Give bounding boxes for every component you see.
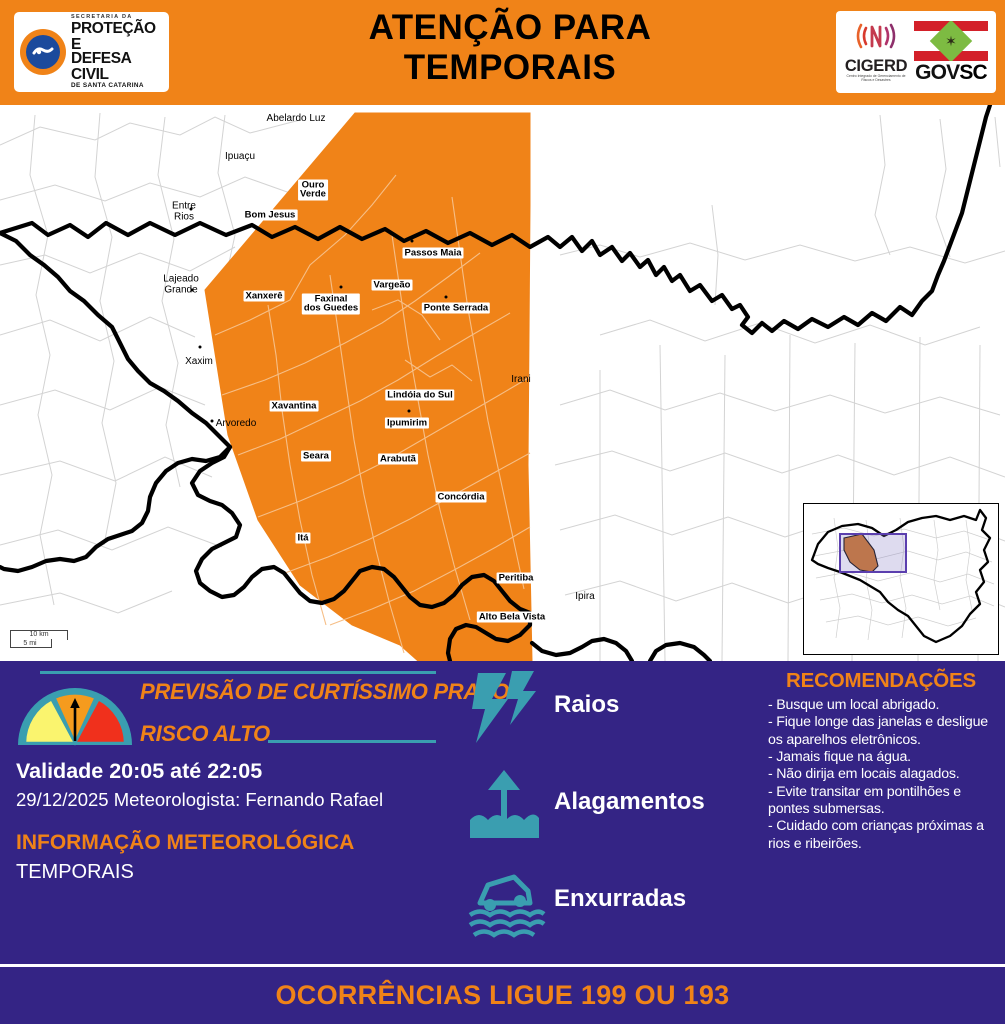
govsc-suffix: SC <box>959 61 987 84</box>
santa-catarina-flag-icon: ✶ <box>914 21 988 61</box>
cigerd-name: CIGERD <box>842 58 910 75</box>
recommendation-item: - Evite transitar em pontilhões e pontes… <box>768 784 1000 819</box>
meteorologist-line: 29/12/2025 Meteorologista: Fernando Rafa… <box>16 789 383 811</box>
city-dot <box>199 346 202 349</box>
hazard-item-raios: Raios <box>468 669 758 766</box>
recommendation-item: - Fique longe das janelas e desligue os … <box>768 714 1000 749</box>
logo-line1: PROTEÇÃO E <box>71 21 169 52</box>
meteo-info-heading: INFORMAÇÃO METEOROLÓGICA <box>16 831 354 855</box>
hazard-label: Alagamentos <box>554 788 705 816</box>
header-bar: SECRETARIA DA PROTEÇÃO E DEFESA CIVIL DE… <box>0 0 1005 105</box>
panel-divider-top <box>40 671 436 674</box>
city-label-passosmaia[interactable]: Passos Maia <box>402 248 463 259</box>
title-line-1: ATENÇÃO PARA <box>200 8 820 48</box>
city-label-concrdia[interactable]: Concórdia <box>436 492 487 503</box>
alert-zone-polygon <box>205 113 532 661</box>
city-label-abelardoluz[interactable]: Abelardo Luz <box>267 114 326 125</box>
city-label-vargeo[interactable]: Vargeão <box>372 280 413 291</box>
hazard-list: Raios Alagamentos <box>468 669 758 960</box>
partner-logos: CIGERD Centro Integrado de Gerenciamento… <box>836 11 996 93</box>
inset-viewport-box <box>840 534 906 572</box>
risk-level-underline <box>268 740 436 743</box>
city-label-ipira[interactable]: Ipira <box>575 592 594 603</box>
city-label-faxinal-dosguedes[interactable]: Faxinaldos Guedes <box>302 294 360 315</box>
hazard-label: Enxurradas <box>554 885 686 913</box>
city-label-ipumirim[interactable]: Ipumirim <box>385 418 429 429</box>
city-label-arvoredo[interactable]: Arvoredo <box>216 419 257 430</box>
city-dot <box>411 240 414 243</box>
hazard-label: Raios <box>554 691 619 719</box>
city-dot <box>445 296 448 299</box>
city-label-xaxim[interactable]: Xaxim <box>185 357 213 368</box>
city-label-bomjesus[interactable]: Bom Jesus <box>243 210 298 221</box>
recommendations-list: - Busque um local abrigado.- Fique longe… <box>762 697 1000 853</box>
city-label-peritiba[interactable]: Peritiba <box>497 573 536 584</box>
west-boundary-detail <box>0 447 230 571</box>
map-scale-bar: 10 km 5 mi <box>10 630 68 650</box>
scale-mi: 5 mi <box>10 640 50 647</box>
risk-level-label: RISCO ALTO <box>140 721 270 747</box>
city-dot <box>408 410 411 413</box>
hazard-item-enxurradas: Enxurradas <box>468 863 758 960</box>
city-label-xavantina[interactable]: Xavantina <box>270 401 319 412</box>
city-dot <box>211 420 214 423</box>
east-lower-boundary-2 <box>650 643 710 661</box>
scale-km: 10 km <box>10 631 68 638</box>
recommendation-item: - Busque um local abrigado. <box>768 697 1000 714</box>
cigerd-waves-icon <box>853 21 899 51</box>
city-label-ipuau[interactable]: Ipuaçu <box>225 152 255 163</box>
cigerd-subtitle: Centro Integrado de Gerenciamento de Ris… <box>842 75 910 83</box>
city-label-ponteserrada[interactable]: Ponte Serrada <box>422 303 490 314</box>
recommendation-item: - Jamais fique na água. <box>768 749 1000 766</box>
validity-period: Validade 20:05 até 22:05 <box>16 759 262 784</box>
title-line-2: TEMPORAIS <box>200 48 820 88</box>
info-panel: PREVISÃO DE CURTÍSSIMO PRAZO RISCO ALTO … <box>0 661 1005 964</box>
cigerd-logo: CIGERD Centro Integrado de Gerenciamento… <box>842 21 910 83</box>
recommendation-item: - Cuidado com crianças próximas a rios e… <box>768 818 1000 853</box>
city-label-altobelavista[interactable]: Alto Bela Vista <box>477 612 547 623</box>
emergency-phone-text: OCORRÊNCIAS LIGUE 199 OU 193 <box>275 980 729 1011</box>
govsc-logo: ✶ GOVSC <box>912 21 990 83</box>
recommendations-block: RECOMENDAÇÕES - Busque um local abrigado… <box>762 669 1000 853</box>
emergency-footer: OCORRÊNCIAS LIGUE 199 OU 193 <box>0 964 1005 1024</box>
city-label-lajeado-grande[interactable]: LajeadoGrande <box>163 275 199 296</box>
inset-vector <box>804 504 997 653</box>
risk-forecast-title: PREVISÃO DE CURTÍSSIMO PRAZO <box>140 679 509 705</box>
risk-gauge-icon <box>14 683 136 749</box>
logo-line3: DE SANTA CATARINA <box>71 83 169 89</box>
logo-line2: DEFESA CIVIL <box>71 51 169 82</box>
page-title: ATENÇÃO PARA TEMPORAIS <box>200 8 820 89</box>
hands-emblem-icon <box>32 45 54 59</box>
flood-rising-water-icon <box>468 766 554 846</box>
east-lower-boundary <box>532 639 632 661</box>
city-label-it[interactable]: Itá <box>295 533 310 544</box>
city-label-lindiadosul[interactable]: Lindóia do Sul <box>385 390 454 401</box>
santa-catarina-state-inset[interactable] <box>803 503 999 655</box>
meteo-info-body: TEMPORAIS <box>16 861 134 884</box>
city-label-arabut[interactable]: Arabutã <box>378 454 418 465</box>
alert-map[interactable]: Abelardo LuzIpuaçuEntreRiosLajeadoGrande… <box>0 105 1005 661</box>
flash-flood-car-icon <box>468 863 554 943</box>
govsc-name: GOVSC <box>912 62 990 83</box>
weather-alert-poster: SECRETARIA DA PROTEÇÃO E DEFESA CIVIL DE… <box>0 0 1005 1024</box>
city-label-irani[interactable]: Irani <box>511 375 530 386</box>
recommendation-item: - Não dirija em locais alagados. <box>768 766 1000 783</box>
city-label-seara[interactable]: Seara <box>301 451 331 462</box>
lightning-bolt-icon <box>468 669 554 749</box>
recommendations-title: RECOMENDAÇÕES <box>762 669 1000 693</box>
city-label-entre-rios[interactable]: EntreRios <box>172 202 196 223</box>
civil-defense-emblem-icon <box>20 29 66 75</box>
city-dot <box>340 286 343 289</box>
govsc-prefix: GOV <box>915 61 959 84</box>
defesa-civil-logo: SECRETARIA DA PROTEÇÃO E DEFESA CIVIL DE… <box>14 12 169 92</box>
hazard-item-alagamentos: Alagamentos <box>468 766 758 863</box>
city-label-ouro-verde[interactable]: OuroVerde <box>298 180 328 201</box>
city-label-xanxer[interactable]: Xanxerê <box>244 291 285 302</box>
